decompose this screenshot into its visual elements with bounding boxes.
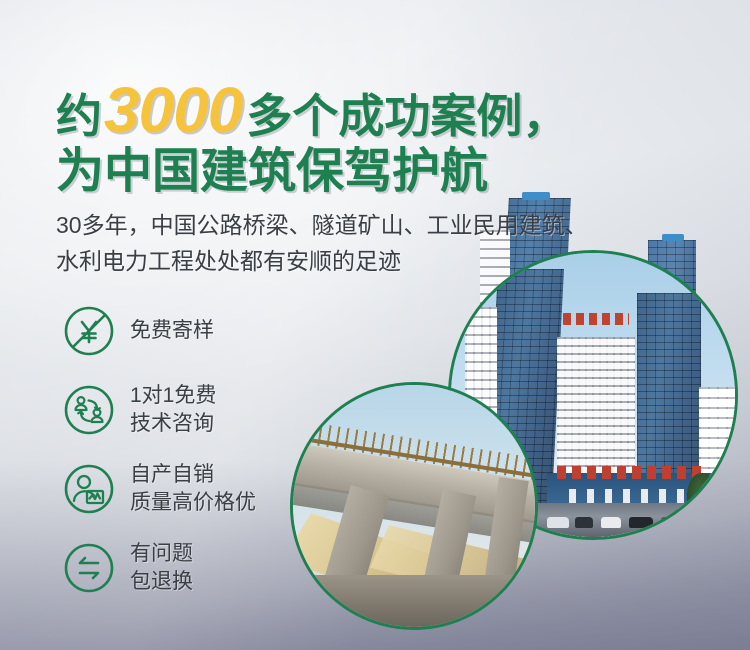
bridge-photo — [290, 382, 538, 630]
feature-list: 免费寄样 — [62, 300, 322, 616]
car — [547, 517, 569, 528]
feature-item-free-sample: 免费寄样 — [62, 300, 322, 362]
entrance-sign-red — [557, 466, 707, 479]
car — [601, 517, 621, 528]
car — [629, 517, 653, 528]
feature-label: 免费寄样 — [130, 317, 214, 345]
rooftop-sign-red — [563, 313, 629, 325]
headline-line-1: 约3000多个成功案例， — [56, 78, 568, 142]
feature-label-line: 包退换 — [130, 568, 193, 596]
headline: 约3000多个成功案例， 为中国建筑保驾护航 — [56, 78, 568, 196]
subtitle-line-1: 30多年，中国公路桥梁、隧道矿山、工业民用建筑、 — [56, 208, 588, 244]
feature-item-return-exchange: 有问题 包退换 — [62, 537, 322, 599]
headline-prefix: 约 — [56, 90, 102, 142]
headline-number: 3000 — [102, 74, 246, 146]
feature-item-consult: 1对1免费 技术咨询 — [62, 379, 322, 441]
feature-item-self-produce: 自产自销 质量高价格优 — [62, 458, 322, 520]
one-to-one-consult-icon — [62, 383, 116, 437]
feature-label: 1对1免费 技术咨询 — [130, 382, 216, 439]
feature-label-line: 1对1免费 — [130, 382, 216, 410]
feature-label-line: 有问题 — [130, 540, 193, 568]
car — [575, 517, 593, 528]
feature-label-line: 技术咨询 — [130, 410, 216, 438]
promo-banner: 约3000多个成功案例， 为中国建筑保驾护航 30多年，中国公路桥梁、隧道矿山、… — [0, 0, 750, 650]
subtitle: 30多年，中国公路桥梁、隧道矿山、工业民用建筑、 水利电力工程处处都有安顺的足迹 — [56, 208, 588, 279]
feature-label-line: 质量高价格优 — [130, 489, 256, 517]
construction-ground — [293, 575, 535, 627]
self-produce-sell-icon — [62, 462, 116, 516]
feature-label-line: 免费寄样 — [130, 317, 214, 345]
return-exchange-icon — [62, 541, 116, 595]
feature-label-line: 自产自销 — [130, 461, 256, 489]
subtitle-line-2: 水利电力工程处处都有安顺的足迹 — [56, 244, 588, 280]
car — [661, 517, 678, 528]
headline-suffix: 多个成功案例， — [246, 90, 568, 142]
feature-label: 自产自销 质量高价格优 — [130, 461, 256, 518]
headline-line-2-text: 为中国建筑保驾护航 — [56, 145, 488, 198]
headline-line-2: 为中国建筑保驾护航 — [56, 148, 568, 196]
feature-label: 有问题 包退换 — [130, 540, 193, 597]
no-fee-yuan-icon — [62, 304, 116, 358]
